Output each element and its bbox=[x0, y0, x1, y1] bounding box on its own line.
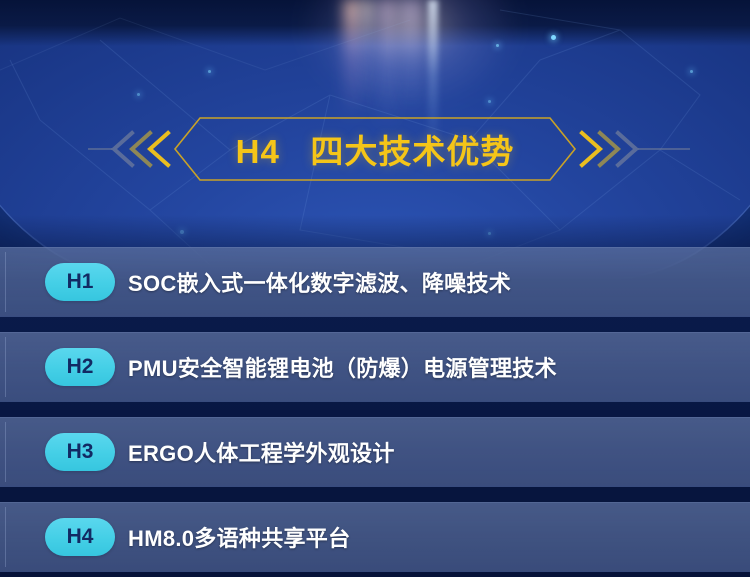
title-banner: H4 四大技术优势 bbox=[0, 108, 750, 190]
item-label: SOC嵌入式一体化数字滤波、降噪技术 bbox=[128, 266, 511, 298]
glow-dot bbox=[551, 35, 556, 40]
item-label: ERGO人体工程学外观设计 bbox=[128, 436, 395, 468]
glow-dot bbox=[496, 44, 499, 47]
list-item[interactable]: H3 ERGO人体工程学外观设计 bbox=[0, 417, 750, 487]
list-item[interactable]: H1 SOC嵌入式一体化数字滤波、降噪技术 bbox=[0, 247, 750, 317]
item-badge: H1 bbox=[45, 263, 115, 301]
list-item[interactable]: H4 HM8.0多语种共享平台 bbox=[0, 502, 750, 572]
glow-dot bbox=[137, 93, 140, 96]
advantage-list: H1 SOC嵌入式一体化数字滤波、降噪技术 H2 PMU安全智能锂电池（防爆）电… bbox=[0, 247, 750, 577]
page-title: H4 四大技术优势 bbox=[0, 108, 750, 190]
slide-canvas: H4 四大技术优势 H1 SOC嵌入式一体化数字滤波、降噪技术 H2 PMU安全… bbox=[0, 0, 750, 577]
item-badge: H3 bbox=[45, 433, 115, 471]
item-badge: H4 bbox=[45, 518, 115, 556]
glow-dot bbox=[690, 70, 693, 73]
glow-dot bbox=[488, 100, 491, 103]
item-label: HM8.0多语种共享平台 bbox=[128, 521, 350, 553]
item-label: PMU安全智能锂电池（防爆）电源管理技术 bbox=[128, 351, 557, 383]
list-item[interactable]: H2 PMU安全智能锂电池（防爆）电源管理技术 bbox=[0, 332, 750, 402]
item-badge: H2 bbox=[45, 348, 115, 386]
glow-dot bbox=[208, 70, 211, 73]
